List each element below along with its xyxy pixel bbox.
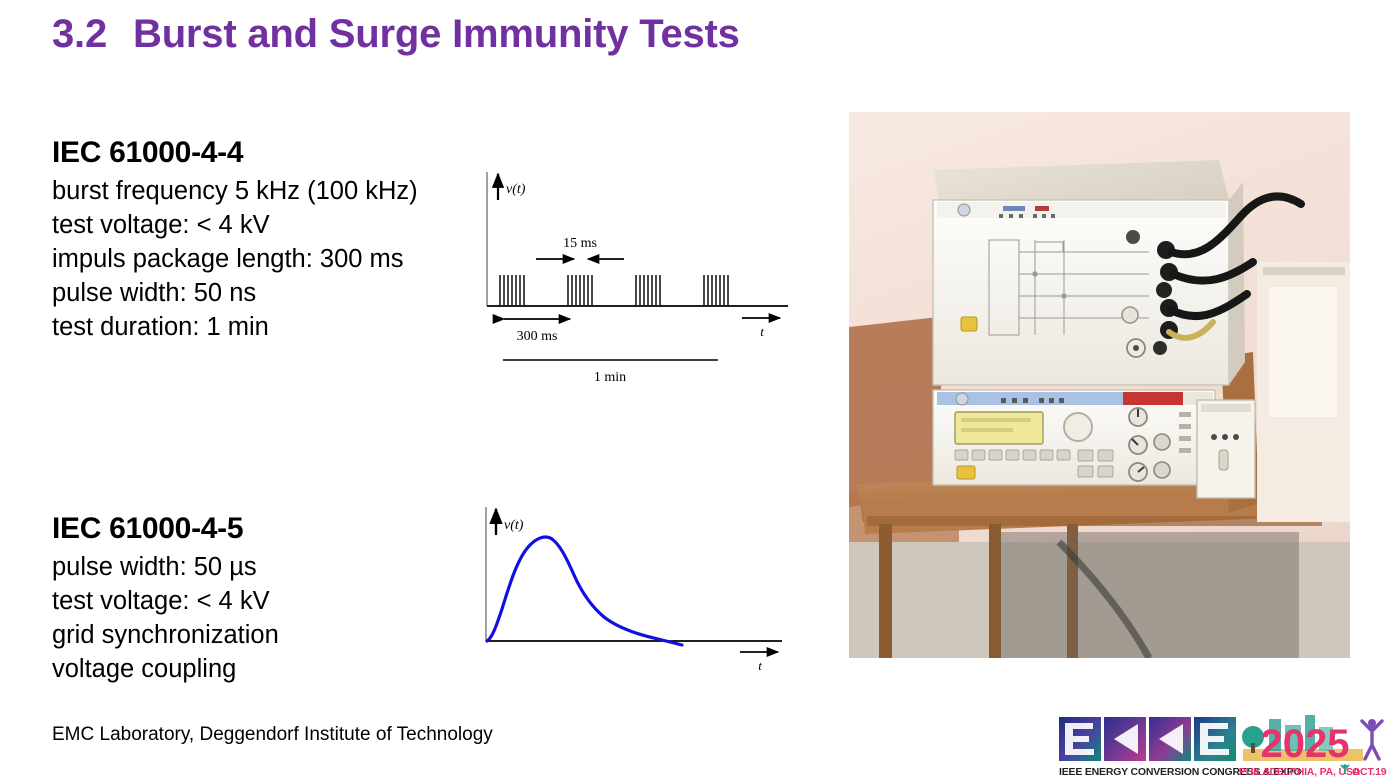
section-line: pulse width: 50 ns xyxy=(52,276,418,310)
photo-back-wall xyxy=(849,317,944,507)
photo-cdn-label-red xyxy=(1035,206,1049,211)
photo-cdn-front-panel xyxy=(933,200,1229,385)
photo-generator-logo xyxy=(956,393,968,405)
section-heading: IEC 61000-4-4 xyxy=(52,136,418,170)
photo-cdn-knob[interactable] xyxy=(1126,230,1140,244)
title-number: 3.2 xyxy=(52,12,107,56)
slide-footer: EMC Laboratory, Deggendorf Institute of … xyxy=(52,724,493,746)
photo-generator-strip-red xyxy=(1123,392,1183,405)
photo-generator-indicator[interactable] xyxy=(957,466,975,479)
section-line: voltage coupling xyxy=(52,652,279,686)
photo-attachment-header xyxy=(1201,404,1251,412)
photo-right-rack-panel xyxy=(1269,287,1337,417)
surge-y-axis-label: v(t) xyxy=(504,518,524,533)
ecce-2025-logo: 2025 IEEE ENERGY CONVERSION CONGRESS & E… xyxy=(1057,713,1387,779)
photo-display-line xyxy=(961,418,1031,422)
surge-curve xyxy=(487,537,682,645)
section-heading: IEC 61000-4-5 xyxy=(52,512,279,546)
logo-dates: OCT.19-23 xyxy=(1352,766,1387,778)
lab-equipment-photo xyxy=(849,112,1350,658)
photo-attachment-lever[interactable] xyxy=(1219,450,1228,470)
burst-package-label: 300 ms xyxy=(517,329,558,344)
surge-waveform-diagram: v(t) t xyxy=(470,495,800,675)
title-text: Burst and Surge Immunity Tests xyxy=(133,12,740,56)
photo-cdn-dial[interactable] xyxy=(1122,307,1138,323)
section-line: burst frequency 5 kHz (100 kHz) xyxy=(52,174,418,208)
photo-attachment-dots xyxy=(1211,434,1239,440)
photo-attachment-module xyxy=(1197,400,1255,498)
section-line: test voltage: < 4 kV xyxy=(52,584,279,618)
burst-packet xyxy=(636,275,660,306)
surge-x-axis-label: t xyxy=(758,658,762,673)
logo-location: PHILADELPHIA, PA, USA xyxy=(1239,766,1361,778)
burst-packet xyxy=(568,275,592,306)
logo-year: 2025 xyxy=(1261,722,1350,766)
photo-under-table xyxy=(999,532,1299,658)
burst-waveform-diagram: v(t) xyxy=(470,160,810,395)
photo-cdn-selector-dot xyxy=(1133,345,1139,351)
burst-duration-label: 1 min xyxy=(594,370,626,385)
burst-y-axis-label: v(t) xyxy=(506,182,526,197)
photo-cdn-button[interactable] xyxy=(1153,341,1167,355)
section-line: test voltage: < 4 kV xyxy=(52,208,418,242)
burst-x-axis-label: t xyxy=(760,324,764,339)
photo-right-rack-vent xyxy=(1263,267,1345,275)
ecce-wordmark xyxy=(1059,717,1236,761)
photo-cdn-indicator[interactable] xyxy=(961,317,977,331)
slide-root: 3.2Burst and Surge Immunity Tests IEC 61… xyxy=(0,0,1390,782)
burst-interval-label: 15 ms xyxy=(563,236,597,251)
section-line: grid synchronization xyxy=(52,618,279,652)
burst-packet xyxy=(500,275,524,306)
logo-year-text: 2025 xyxy=(1261,722,1350,766)
burst-packet xyxy=(704,275,728,306)
section-iec-61000-4-4: IEC 61000-4-4 burst frequency 5 kHz (100… xyxy=(52,136,418,344)
section-line: impuls package length: 300 ms xyxy=(52,242,418,276)
photo-table-shadow xyxy=(867,516,1322,526)
section-line: test duration: 1 min xyxy=(52,310,418,344)
photo-generator-encoder[interactable] xyxy=(1064,413,1092,441)
photo-cdn-header xyxy=(937,202,1225,218)
section-iec-61000-4-5: IEC 61000-4-5 pulse width: 50 µs test vo… xyxy=(52,512,279,686)
photo-display-line xyxy=(961,428,1013,432)
page-title: 3.2Burst and Surge Immunity Tests xyxy=(52,12,740,57)
photo-cdn-logo xyxy=(958,204,970,216)
photo-cdn-label xyxy=(1003,206,1025,211)
photo-table-leg xyxy=(879,524,892,658)
logo-figure-icon xyxy=(1362,719,1382,759)
section-line: pulse width: 50 µs xyxy=(52,550,279,584)
burst-packet-group xyxy=(500,275,728,306)
